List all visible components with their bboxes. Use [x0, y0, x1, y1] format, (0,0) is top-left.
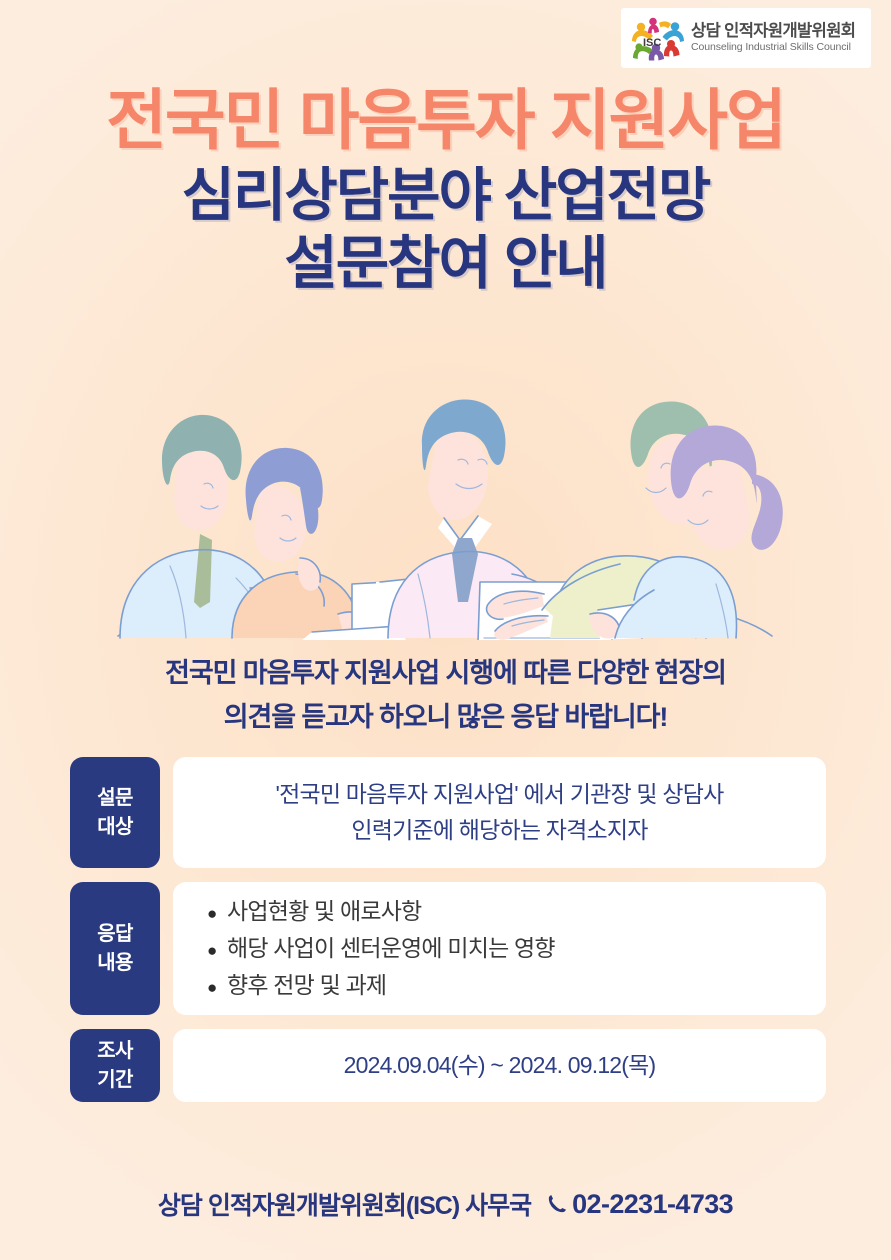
page-title-line-2: 심리상담분야 산업전망: [0, 162, 891, 230]
meeting-discussion-illustration: .ln { fill:none; stroke:#7b9ed0; stroke-…: [100, 388, 790, 640]
footer-phone-number: 02-2231-4733: [572, 1189, 733, 1220]
footer-organization: 상담 인적자원개발위원회(ISC) 사무국: [158, 1186, 531, 1222]
bullet-dot-icon: ●: [207, 900, 227, 928]
row-label-line-1: 응답: [97, 920, 133, 949]
poster-title-block: 전국민 마음투자 지원사업 심리상담분야 산업전망 설문참여 안내: [0, 86, 891, 299]
row-label-response-content: 응답 내용: [70, 882, 160, 1015]
row-body-survey-period: 2024.09.04(수) ~ 2024. 09.12(목): [173, 1029, 826, 1102]
footer: 상담 인적자원개발위원회(ISC) 사무국 02-2231-4733: [0, 1186, 891, 1222]
footer-telephone[interactable]: 02-2231-4733: [545, 1189, 733, 1220]
isc-logo-name-en: Counseling Industrial Skills Council: [691, 42, 855, 53]
row-label-line-2: 기간: [97, 1066, 133, 1095]
page-title-line-3: 설문참여 안내: [0, 230, 891, 298]
bullet-dot-icon: ●: [207, 974, 227, 1002]
list-item: ● 사업현황 및 애로사항: [207, 893, 826, 930]
row-body-response-content: ● 사업현황 및 애로사항 ● 해당 사업이 센터운영에 미치는 영향 ● 향후…: [173, 882, 826, 1015]
row-body-line: 인력기준에 해당하는 자격소지자: [351, 813, 647, 849]
list-item: ● 해당 사업이 센터운영에 미치는 영향: [207, 930, 826, 967]
list-item: ● 향후 전망 및 과제: [207, 967, 826, 1004]
row-body-survey-target: '전국민 마음투자 지원사업' 에서 기관장 및 상담사 인력기준에 해당하는 …: [173, 757, 826, 868]
row-label-survey-period: 조사 기간: [70, 1029, 160, 1102]
list-item-label: 해당 사업이 센터운영에 미치는 영향: [227, 930, 555, 967]
list-item-label: 사업현황 및 애로사항: [227, 893, 421, 930]
list-item-label: 향후 전망 및 과제: [227, 967, 386, 1004]
bullet-list: ● 사업현황 및 애로사항 ● 해당 사업이 센터운영에 미치는 영향 ● 향후…: [173, 887, 826, 1011]
row-body-line: '전국민 마음투자 지원사업' 에서 기관장 및 상담사: [276, 777, 724, 813]
lead-paragraph: 전국민 마음투자 지원사업 시행에 따른 다양한 현장의 의견을 듣고자 하오니…: [0, 652, 891, 739]
isc-logo-text: 상담 인적자원개발위원회 Counseling Industrial Skill…: [691, 23, 855, 53]
row-body-line: 2024.09.04(수) ~ 2024. 09.12(목): [344, 1048, 656, 1084]
info-row-survey-target: 설문 대상 '전국민 마음투자 지원사업' 에서 기관장 및 상담사 인력기준에…: [70, 757, 826, 868]
row-label-line-2: 내용: [97, 949, 133, 978]
lead-line-2: 의견을 듣고자 하오니 많은 응답 바랍니다!: [0, 696, 891, 740]
poster-canvas: ISC 상담 인적자원개발위원회 Counseling Industrial S…: [0, 0, 891, 1260]
lead-line-1: 전국민 마음투자 지원사업 시행에 따른 다양한 현장의: [0, 652, 891, 696]
page-title-line-1: 전국민 마음투자 지원사업: [0, 86, 891, 156]
isc-people-logo-icon: ISC: [629, 14, 687, 62]
isc-logo-box: ISC 상담 인적자원개발위원회 Counseling Industrial S…: [621, 8, 871, 68]
isc-wordmark: ISC: [643, 37, 661, 49]
bullet-dot-icon: ●: [207, 937, 227, 965]
row-label-line-2: 대상: [97, 813, 133, 842]
info-row-survey-period: 조사 기간 2024.09.04(수) ~ 2024. 09.12(목): [70, 1029, 826, 1102]
row-label-survey-target: 설문 대상: [70, 757, 160, 868]
info-row-response-content: 응답 내용 ● 사업현황 및 애로사항 ● 해당 사업이 센터운영에 미치는 영…: [70, 882, 826, 1015]
info-rows: 설문 대상 '전국민 마음투자 지원사업' 에서 기관장 및 상담사 인력기준에…: [70, 757, 826, 1116]
isc-logo-name-ko: 상담 인적자원개발위원회: [691, 23, 855, 40]
row-label-line-1: 조사: [97, 1037, 133, 1066]
row-label-line-1: 설문: [97, 784, 133, 813]
phone-handset-icon: [545, 1193, 568, 1216]
